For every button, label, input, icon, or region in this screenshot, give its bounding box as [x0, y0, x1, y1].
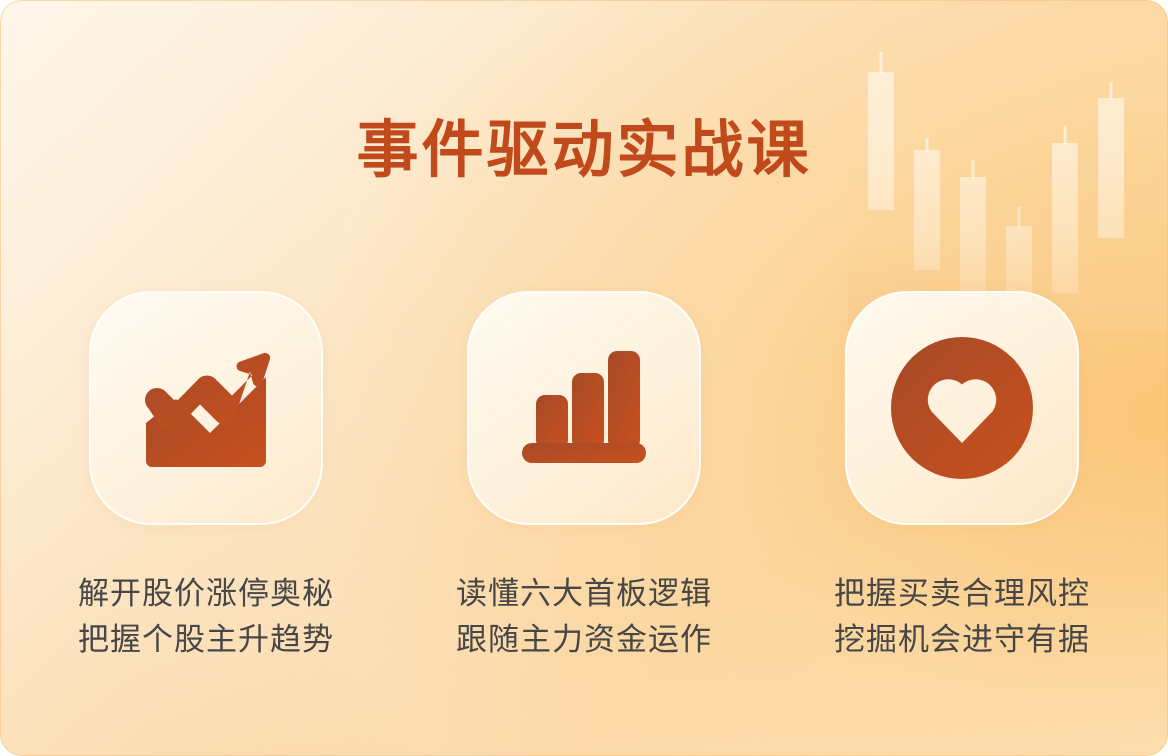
trending-up-chart-icon — [140, 347, 272, 469]
feature-caption-1: 解开股价涨停奥秘 把握个股主升趋势 — [78, 571, 334, 663]
caption-line-2: 挖掘机会进守有据 — [834, 617, 1090, 663]
feature-item-3: 把握买卖合理风控 挖掘机会进守有据 — [845, 291, 1079, 663]
feature-caption-3: 把握买卖合理风控 挖掘机会进守有据 — [834, 571, 1090, 663]
caption-line-1: 把握买卖合理风控 — [834, 576, 1090, 611]
feature-caption-2: 读懂六大首板逻辑 跟随主力资金运作 — [456, 571, 712, 663]
caption-line-1: 解开股价涨停奥秘 — [78, 576, 334, 611]
icon-card-3 — [845, 291, 1079, 525]
promo-banner: 事件驱动实战课 — [0, 0, 1168, 756]
icon-card-2 — [467, 291, 701, 525]
caption-line-1: 读懂六大首板逻辑 — [456, 576, 712, 611]
page-title: 事件驱动实战课 — [0, 118, 1168, 185]
feature-item-1: 解开股价涨停奥秘 把握个股主升趋势 — [89, 291, 323, 663]
feature-list: 解开股价涨停奥秘 把握个股主升趋势 — [0, 291, 1168, 663]
feature-item-2: 读懂六大首板逻辑 跟随主力资金运作 — [467, 291, 701, 663]
heart-circle-icon — [889, 335, 1035, 481]
caption-line-2: 跟随主力资金运作 — [456, 617, 712, 663]
icon-card-1 — [89, 291, 323, 525]
caption-line-2: 把握个股主升趋势 — [78, 617, 334, 663]
bar-chart-icon — [520, 349, 648, 467]
